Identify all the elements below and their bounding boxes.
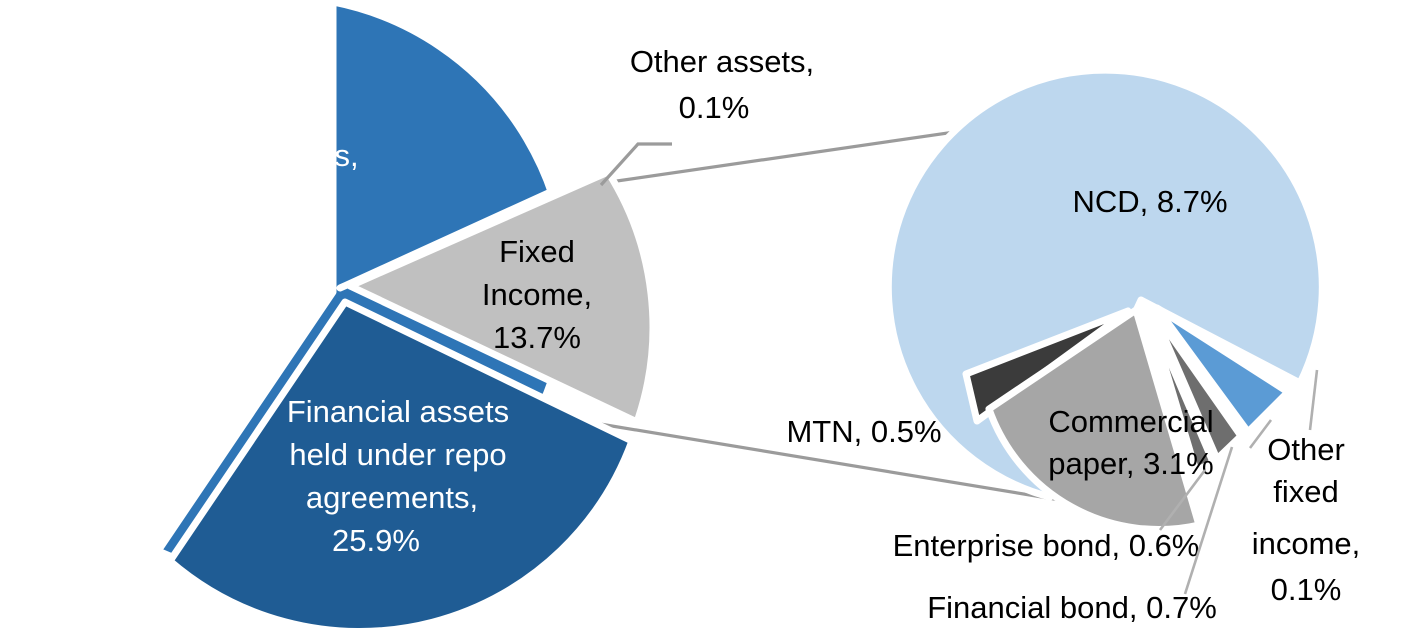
- label-mtn: MTN, 0.5%: [786, 414, 941, 449]
- label-commercial-paper-line2: paper, 3.1%: [1048, 446, 1213, 481]
- label-fixed-income-line1: Fixed: [499, 234, 575, 269]
- label-repo-line4: 25.9%: [332, 523, 420, 558]
- label-other-fixed-line1: Other: [1267, 432, 1345, 467]
- label-fixed-income-line3: 13.7%: [493, 320, 581, 355]
- pie-of-pie-chart: Bank deposits, 60.3% Financial assets he…: [0, 0, 1404, 644]
- label-other-assets-line2: 0.1%: [679, 90, 750, 125]
- label-enterprise-bond: Enterprise bond, 0.6%: [893, 528, 1200, 563]
- label-fixed-income-line2: Income,: [482, 277, 592, 312]
- label-repo-line1: Financial assets: [287, 394, 509, 429]
- label-repo-line3: agreements,: [306, 480, 478, 515]
- label-commercial-paper-line1: Commercial: [1048, 404, 1213, 439]
- label-other-assets-line1: Other assets,: [630, 44, 814, 79]
- label-ncd: NCD, 8.7%: [1072, 184, 1227, 219]
- label-repo-line2: held under repo: [289, 437, 506, 472]
- label-financial-bond: Financial bond, 0.7%: [927, 590, 1217, 625]
- leader-other-fixed-income: [1310, 370, 1317, 430]
- label-other-fixed-line3: income,: [1252, 526, 1361, 561]
- label-bank-deposits-line2: 60.3%: [187, 181, 275, 216]
- chart-canvas: Bank deposits, 60.3% Financial assets he…: [0, 0, 1404, 644]
- label-other-fixed-line4: 0.1%: [1271, 572, 1342, 607]
- label-bank-deposits-line1: Bank deposits,: [155, 138, 358, 173]
- label-other-fixed-line2: fixed: [1273, 474, 1338, 509]
- other-assets-callout: Other assets, 0.1%: [601, 44, 814, 185]
